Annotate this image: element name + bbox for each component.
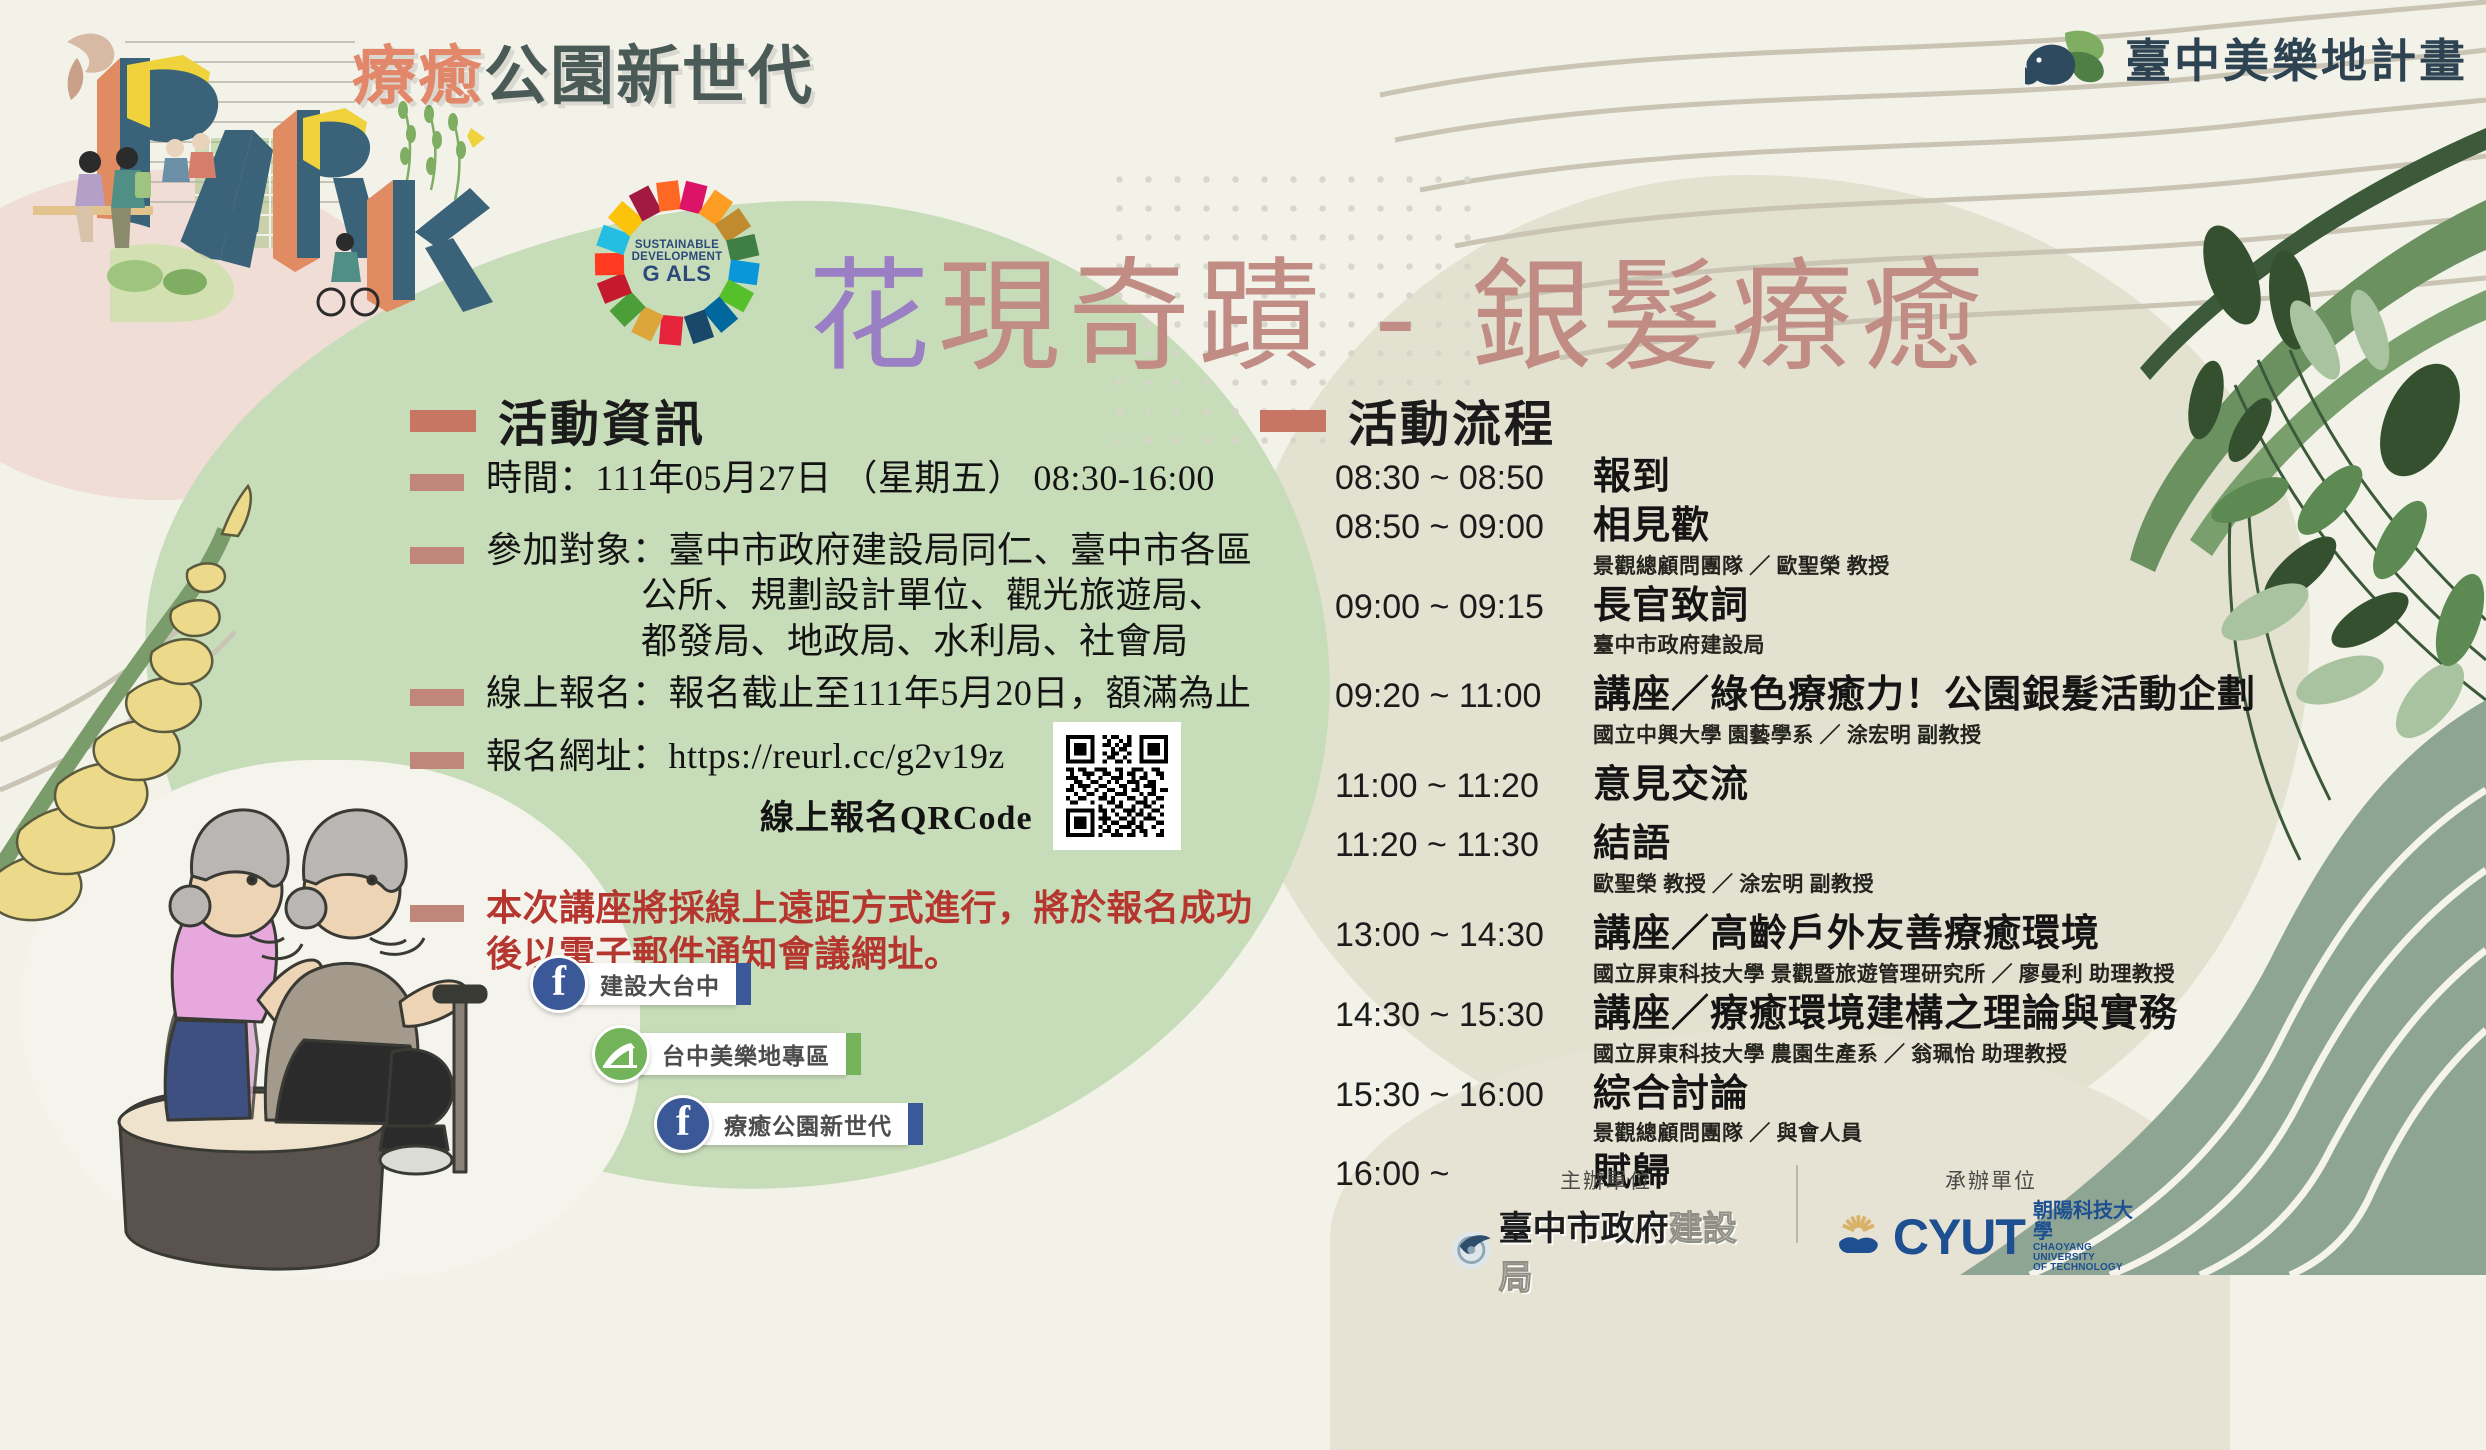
schedule-title: 綜合討論 (1593, 1072, 1863, 1117)
playground-slide-icon[interactable] (592, 1025, 650, 1083)
social-badge-plate[interactable]: 建設大台中 (576, 963, 736, 1005)
footer-divider (1796, 1165, 1798, 1243)
sdg-wheel-logo: SUSTAINABLE DEVELOPMENT G ALS (592, 178, 762, 348)
schedule-row: 09:00 ~ 09:15 長官致詞 臺中市政府建設局 (1335, 584, 2315, 660)
heading-dash-icon (410, 410, 476, 432)
bird-leaf-icon (2025, 27, 2111, 89)
bullet-dash-icon (410, 547, 464, 564)
social-badge-label: 台中美樂地專區 (662, 1037, 830, 1071)
schedule-list: 08:30 ~ 08:50 報到 08:50 ~ 09:00 相見歡 景觀總顧問… (1335, 455, 2315, 1200)
event-info-heading: 活動資訊 (410, 385, 706, 456)
registration-qr-code[interactable] (1053, 722, 1181, 850)
qr-code-block[interactable] (1053, 722, 1181, 850)
badge-cap (846, 1033, 861, 1075)
schedule-heading: 活動流程 (1260, 385, 1556, 456)
qr-code-icon[interactable] (1066, 735, 1168, 837)
social-badge-plate[interactable]: 台中美樂地專區 (638, 1033, 846, 1075)
schedule-speaker: 歐聖榮 教授 ／ 涂宏明 副教授 (1593, 868, 1874, 898)
schedule-title: 相見歡 (1593, 504, 1890, 549)
cyut-name-block: 朝陽科技大學 CHAOYANG UNIVERSITY OF TECHNOLOGY (2033, 1201, 2150, 1274)
page-title-rest: 現奇蹟 - 銀髮療癒 (938, 246, 1991, 388)
bullet-dash-icon (410, 689, 464, 706)
schedule-time: 15:30 ~ 16:00 (1335, 1072, 1593, 1115)
schedule-time: 08:50 ~ 09:00 (1335, 504, 1593, 547)
schedule-time: 09:20 ~ 11:00 (1335, 673, 1593, 716)
schedule-title: 意見交流 (1593, 764, 1749, 806)
schedule-row: 08:30 ~ 08:50 報到 (1335, 455, 2315, 500)
social-badge-facebook-jiansheda[interactable]: f 建設大台中 (530, 955, 923, 1013)
taichung-city-emblem-icon (1450, 1228, 1493, 1272)
coorg-label: 承辦單位 (1945, 1165, 2037, 1195)
schedule-speaker: 國立屏東科技大學 農園生產系 ／ 翁珮怡 助理教授 (1593, 1038, 2178, 1068)
social-badge-label: 療癒公園新世代 (724, 1107, 892, 1141)
info-notice-line1: 本次講座將採線上遠距方式進行，將於報名成功 (486, 888, 1253, 928)
social-badge-label: 建設大台中 (600, 967, 720, 1001)
schedule-row: 14:30 ~ 15:30 講座／療癒環境建構之理論與實務 國立屏東科技大學 農… (1335, 992, 2315, 1068)
social-badge-list: f 建設大台中 台中美樂地專區 f 療癒公園新世代 (530, 955, 923, 1165)
host-name: 臺中市政府建設局 (1499, 1201, 1762, 1299)
info-time-text: 時間：111年05月27日 （星期五） 08:30-16:00 (486, 455, 1215, 502)
schedule-speaker: 景觀總顧問團隊 ／ 歐聖榮 教授 (1593, 550, 1890, 580)
schedule-title: 講座／高齡戶外友善療癒環境 (1593, 912, 2175, 957)
info-registration-text: 線上報名：報名截止至111年5月20日，額滿為止 (486, 670, 1251, 717)
schedule-time: 14:30 ~ 15:30 (1335, 992, 1593, 1035)
sdg-line1: SUSTAINABLE (632, 240, 723, 252)
cyut-name-cn: 朝陽科技大學 (2033, 1201, 2150, 1243)
footer-organizers: 主辦單位 臺中市政府建設局 承辦單位 (1450, 1165, 2150, 1299)
schedule-row: 15:30 ~ 16:00 綜合討論 景觀總顧問團隊 ／ 與會人員 (1335, 1072, 2315, 1148)
cyut-name-en1: CHAOYANG UNIVERSITY (2033, 1243, 2150, 1264)
coorg-block: 承辦單位 CYUT 朝陽科技大學 (1832, 1165, 2150, 1274)
social-badge-facebook-healing-park[interactable]: f 療癒公園新世代 (654, 1095, 923, 1153)
schedule-speaker: 國立屏東科技大學 景觀暨旅遊管理研究所 ／ 廖曼利 助理教授 (1593, 958, 2175, 988)
social-badge-plate[interactable]: 療癒公園新世代 (700, 1103, 908, 1145)
schedule-row: 11:20 ~ 11:30 結語 歐聖榮 教授 ／ 涂宏明 副教授 (1335, 822, 2315, 898)
host-logo: 臺中市政府建設局 (1450, 1201, 1762, 1299)
brand-name: 臺中美樂地計畫 (2125, 25, 2468, 91)
slide-glyph (601, 1039, 641, 1069)
series-logo: 療癒公園新世代 (352, 25, 814, 117)
host-label: 主辦單位 (1560, 1165, 1652, 1195)
schedule-title: 報到 (1593, 456, 1671, 498)
series-logo-part1: 療癒 (352, 40, 484, 112)
bullet-dash-icon (410, 905, 464, 922)
bullet-dash-icon (410, 474, 464, 491)
info-audience-text: 參加對象：臺中市政府建設局同仁、臺中市各區 (486, 530, 1253, 570)
host-org-block: 主辦單位 臺中市政府建設局 (1450, 1165, 1762, 1299)
cyut-sunburst-icon (1832, 1214, 1885, 1260)
bullet-dash-icon (410, 752, 464, 769)
schedule-title: 講座／療癒環境建構之理論與實務 (1593, 992, 2178, 1037)
content-layer: 療癒公園新世代 臺中美樂地計畫 (0, 0, 2486, 1275)
schedule-title: 長官致詞 (1593, 584, 1765, 629)
schedule-speaker: 臺中市政府建設局 (1593, 629, 1765, 659)
cyut-name-en2: OF TECHNOLOGY (2033, 1263, 2150, 1273)
qr-caption: 線上報名QRCode (760, 790, 1033, 839)
info-audience-block: 參加對象：臺中市政府建設局同仁、臺中市各區 公所、規劃設計單位、觀光旅遊局、 都… (486, 528, 1253, 664)
info-audience-line2: 公所、規劃設計單位、觀光旅遊局、 (486, 573, 1253, 618)
event-info-heading-label: 活動資訊 (498, 385, 706, 456)
schedule-title: 結語 (1593, 822, 1874, 867)
schedule-row: 08:50 ~ 09:00 相見歡 景觀總顧問團隊 ／ 歐聖榮 教授 (1335, 504, 2315, 580)
schedule-row: 11:00 ~ 11:20 意見交流 (1335, 763, 2315, 808)
badge-cap (736, 963, 751, 1005)
info-row-time: 時間：111年05月27日 （星期五） 08:30-16:00 (410, 455, 1290, 502)
schedule-speaker: 國立中興大學 園藝學系 ／ 涂宏明 副教授 (1593, 719, 2256, 749)
facebook-icon[interactable]: f (654, 1095, 712, 1153)
brand-lockup: 臺中美樂地計畫 (2025, 25, 2468, 91)
schedule-row: 09:20 ~ 11:00 講座／綠色療癒力！公園銀髮活動企劃 國立中興大學 園… (1335, 673, 2315, 749)
schedule-time: 13:00 ~ 14:30 (1335, 912, 1593, 955)
schedule-time: 11:00 ~ 11:20 (1335, 763, 1593, 806)
schedule-row: 13:00 ~ 14:30 講座／高齡戶外友善療癒環境 國立屏東科技大學 景觀暨… (1335, 912, 2315, 988)
info-row-audience: 參加對象：臺中市政府建設局同仁、臺中市各區 公所、規劃設計單位、觀光旅遊局、 都… (410, 528, 1290, 664)
heading-dash-icon (1260, 410, 1326, 432)
sdg-line3: G ALS (632, 264, 723, 286)
schedule-title: 講座／綠色療癒力！公園銀髮活動企劃 (1593, 673, 2256, 718)
schedule-speaker: 景觀總顧問團隊 ／ 與會人員 (1593, 1117, 1863, 1147)
cyut-logo: CYUT 朝陽科技大學 CHAOYANG UNIVERSITY OF TECHN… (1832, 1201, 2150, 1274)
schedule-heading-label: 活動流程 (1348, 385, 1556, 456)
page-title: 花現奇蹟 - 銀髮療癒 (808, 218, 1991, 395)
info-audience-line3: 都發局、地政局、水利局、社會局 (486, 619, 1253, 664)
schedule-time: 08:30 ~ 08:50 (1335, 455, 1593, 498)
schedule-time: 11:20 ~ 11:30 (1335, 822, 1593, 865)
facebook-icon[interactable]: f (530, 955, 588, 1013)
social-badge-meile-zone[interactable]: 台中美樂地專區 (592, 1025, 923, 1083)
badge-cap (908, 1103, 923, 1145)
info-row-registration: 線上報名：報名截止至111年5月20日，額滿為止 (410, 670, 1290, 717)
schedule-time: 09:00 ~ 09:15 (1335, 584, 1593, 627)
event-info-list: 時間：111年05月27日 （星期五） 08:30-16:00 參加對象：臺中市… (410, 455, 1290, 985)
series-logo-part2: 公園新世代 (484, 40, 814, 112)
cyut-wordmark: CYUT (1893, 1208, 2025, 1266)
page-title-highlight: 花 (808, 246, 938, 388)
info-url-text[interactable]: 報名網址：https://reurl.cc/g2v19z (486, 733, 1005, 780)
sdg-center-text: SUSTAINABLE DEVELOPMENT G ALS (632, 240, 723, 286)
